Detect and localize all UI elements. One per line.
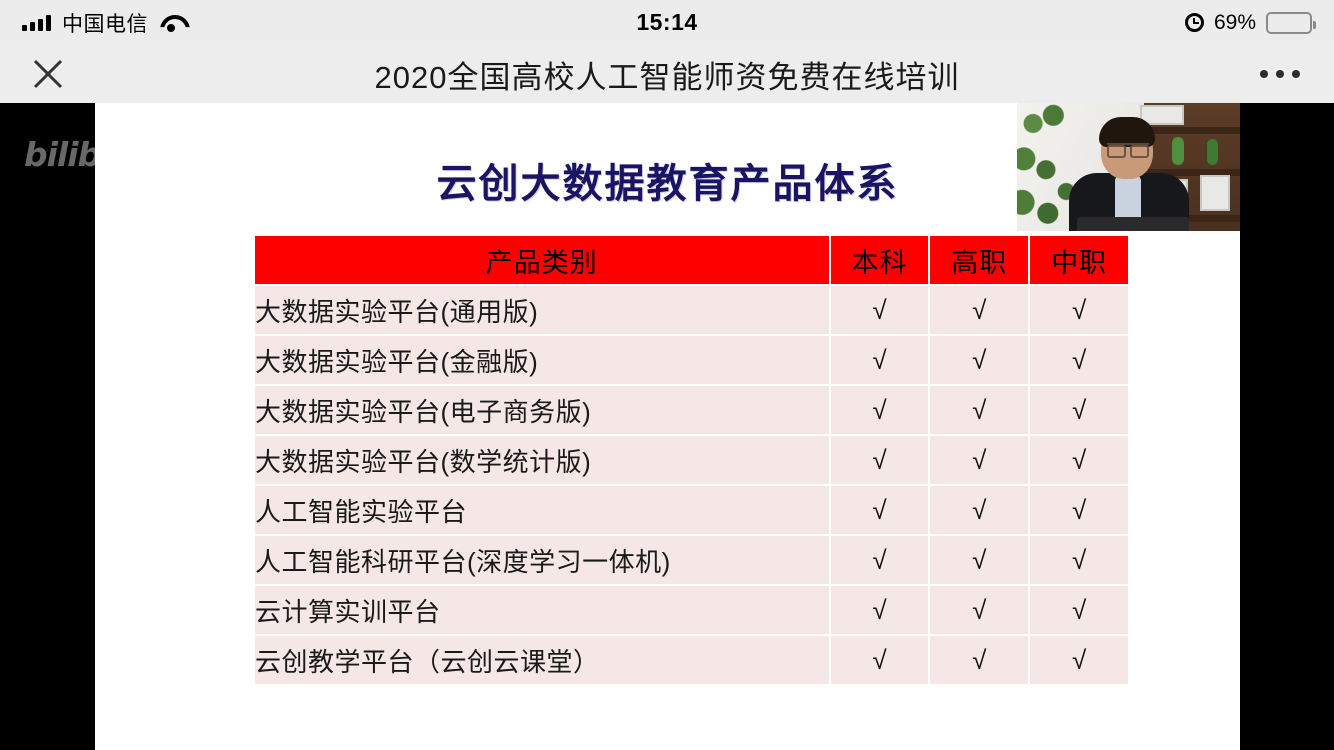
cell-zhongzhi: √ bbox=[1030, 586, 1128, 634]
cell-zhongzhi: √ bbox=[1030, 486, 1128, 534]
cell-benke: √ bbox=[831, 636, 929, 684]
cell-zhongzhi: √ bbox=[1030, 336, 1128, 384]
table-row: 大数据实验平台(通用版) √ √ √ bbox=[255, 286, 1128, 334]
cell-product-name: 大数据实验平台(通用版) bbox=[255, 286, 829, 334]
cell-gaozhi: √ bbox=[930, 436, 1028, 484]
pip-laptop bbox=[1077, 217, 1189, 231]
pip-plant-decor bbox=[1172, 137, 1184, 165]
presenter-video-overlay[interactable] bbox=[1017, 103, 1240, 231]
cell-zhongzhi: √ bbox=[1030, 436, 1128, 484]
cell-product-name: 大数据实验平台(金融版) bbox=[255, 336, 829, 384]
cell-gaozhi: √ bbox=[930, 336, 1028, 384]
column-header-gaozhi: 高职 bbox=[930, 236, 1028, 284]
cell-benke: √ bbox=[831, 436, 929, 484]
cell-product-name: 云计算实训平台 bbox=[255, 586, 829, 634]
table-header-row: 产品类别 本科 高职 中职 bbox=[255, 236, 1128, 284]
table-row: 大数据实验平台(数学统计版) √ √ √ bbox=[255, 436, 1128, 484]
page-title: 2020全国高校人工智能师资免费在线培训 bbox=[0, 52, 1334, 97]
cell-product-name: 云创教学平台（云创云课堂） bbox=[255, 636, 829, 684]
alarm-clock-icon bbox=[1185, 13, 1204, 32]
column-header-zhongzhi: 中职 bbox=[1030, 236, 1128, 284]
cell-gaozhi: √ bbox=[930, 586, 1028, 634]
navigation-bar: 2020全国高校人工智能师资免费在线培训 bbox=[0, 45, 1334, 103]
table-row: 云计算实训平台 √ √ √ bbox=[255, 586, 1128, 634]
cell-zhongzhi: √ bbox=[1030, 636, 1128, 684]
cell-benke: √ bbox=[831, 586, 929, 634]
cell-gaozhi: √ bbox=[930, 386, 1028, 434]
cell-zhongzhi: √ bbox=[1030, 536, 1128, 584]
cell-benke: √ bbox=[831, 386, 929, 434]
cell-zhongzhi: √ bbox=[1030, 286, 1128, 334]
pip-plant-decor bbox=[1207, 139, 1218, 165]
status-bar-right: 69% bbox=[1185, 11, 1312, 35]
cell-product-name: 大数据实验平台(数学统计版) bbox=[255, 436, 829, 484]
cell-zhongzhi: √ bbox=[1030, 386, 1128, 434]
cell-gaozhi: √ bbox=[930, 486, 1028, 534]
cell-gaozhi: √ bbox=[930, 636, 1028, 684]
cell-product-name: 人工智能实验平台 bbox=[255, 486, 829, 534]
column-header-benke: 本科 bbox=[831, 236, 929, 284]
product-matrix-table: 产品类别 本科 高职 中职 大数据实验平台(通用版) √ √ √ 大数据实验平台… bbox=[253, 234, 1130, 686]
video-player[interactable]: bilibili 云创大数据教育产品体系 产品类别 本科 高职 中职 大数据实验… bbox=[0, 103, 1334, 750]
cell-product-name: 人工智能科研平台(深度学习一体机) bbox=[255, 536, 829, 584]
table-row: 大数据实验平台(金融版) √ √ √ bbox=[255, 336, 1128, 384]
status-bar: 中国电信 15:14 69% bbox=[0, 0, 1334, 45]
column-header-category: 产品类别 bbox=[255, 236, 829, 284]
cell-product-name: 大数据实验平台(电子商务版) bbox=[255, 386, 829, 434]
cell-benke: √ bbox=[831, 336, 929, 384]
battery-percent-label: 69% bbox=[1214, 11, 1256, 35]
table-row: 大数据实验平台(电子商务版) √ √ √ bbox=[255, 386, 1128, 434]
cell-benke: √ bbox=[831, 286, 929, 334]
pip-presenter-shirt bbox=[1115, 175, 1141, 223]
table-body: 大数据实验平台(通用版) √ √ √ 大数据实验平台(金融版) √ √ √ 大数… bbox=[255, 286, 1128, 684]
status-bar-clock: 15:14 bbox=[0, 9, 1334, 36]
letterbox-right bbox=[1240, 103, 1334, 750]
battery-icon bbox=[1266, 12, 1312, 34]
cell-gaozhi: √ bbox=[930, 286, 1028, 334]
letterbox-left bbox=[0, 103, 95, 750]
table-row: 云创教学平台（云创云课堂） √ √ √ bbox=[255, 636, 1128, 684]
cell-gaozhi: √ bbox=[930, 536, 1028, 584]
pip-presenter-glasses bbox=[1107, 143, 1149, 152]
table-row: 人工智能实验平台 √ √ √ bbox=[255, 486, 1128, 534]
phone-screen: 中国电信 15:14 69% 2020全国高校人工智能师资免费在线培训 bbox=[0, 0, 1334, 750]
cell-benke: √ bbox=[831, 536, 929, 584]
table-row: 人工智能科研平台(深度学习一体机) √ √ √ bbox=[255, 536, 1128, 584]
pip-picture-frame bbox=[1200, 175, 1230, 211]
cell-benke: √ bbox=[831, 486, 929, 534]
table-header: 产品类别 本科 高职 中职 bbox=[255, 236, 1128, 284]
